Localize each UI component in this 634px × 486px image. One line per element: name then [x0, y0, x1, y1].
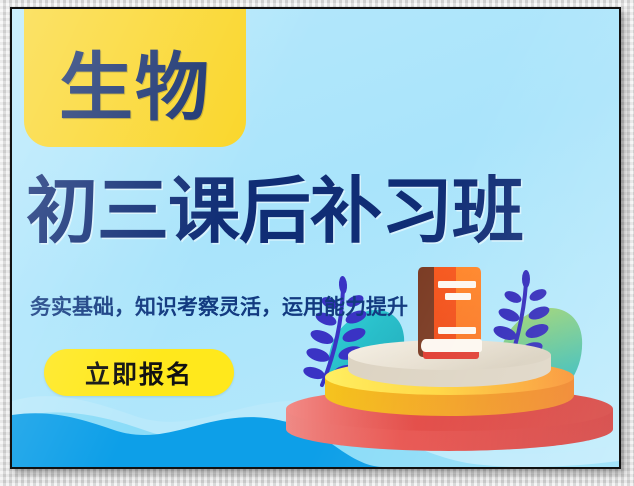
book-label-bar-2 [445, 293, 471, 300]
book-icon [418, 267, 482, 359]
page-title: 初三课后补习班 [26, 175, 610, 247]
subtitle-text: 务实基础，知识考察灵活，运用能力提升 [30, 295, 408, 320]
subject-badge-label: 生物 [59, 51, 211, 147]
page-backdrop: 生物 初三课后补习班 务实基础，知识考察灵活，运用能力提升 立即报名 [0, 0, 634, 486]
enroll-button-label: 立即报名 [85, 355, 193, 391]
enroll-button[interactable]: 立即报名 [44, 349, 234, 396]
subject-badge: 生物 [24, 7, 246, 147]
poster-canvas: 生物 初三课后补习班 务实基础，知识考察灵活，运用能力提升 立即报名 [10, 7, 621, 469]
book-label-bar-1 [438, 281, 476, 288]
book-label-bar-3 [438, 327, 476, 334]
illustration-scene [280, 259, 619, 467]
